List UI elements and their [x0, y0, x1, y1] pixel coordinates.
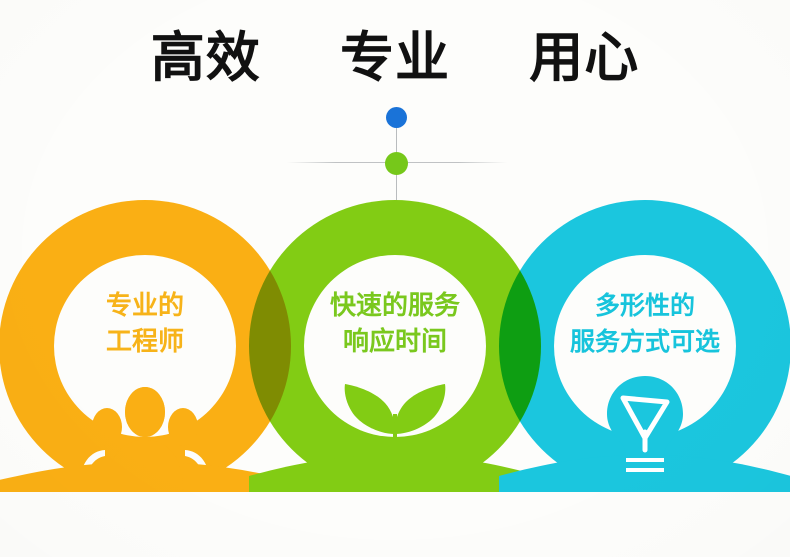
feature-card-engineers-text: 专业的工程师 — [0, 288, 291, 360]
people-group-icon — [0, 372, 291, 492]
engineers-line-1: 专业的 — [106, 291, 184, 321]
feature-card-response-time-text: 快速的服务响应时间 — [249, 288, 541, 360]
feature-card-engineers: 专业的工程师 — [0, 200, 291, 492]
feature-card-service-options-text: 多形性的服务方式可选 — [499, 288, 790, 360]
infographic-canvas: 高效 专业 用心 专业的工程师 — [0, 0, 790, 557]
sprout-icon — [249, 372, 541, 492]
response-line-1: 快速的服务 — [330, 291, 460, 321]
engineers-line-2: 工程师 — [106, 327, 184, 357]
service-line-1: 多形性的 — [595, 291, 695, 320]
lightbulb-icon — [499, 372, 790, 492]
service-line-2: 服务方式可选 — [570, 327, 720, 356]
response-line-2: 响应时间 — [343, 327, 447, 357]
feature-card-response-time: 快速的服务响应时间 — [249, 200, 541, 492]
feature-card-service-options: 多形性的服务方式可选 — [499, 200, 790, 492]
